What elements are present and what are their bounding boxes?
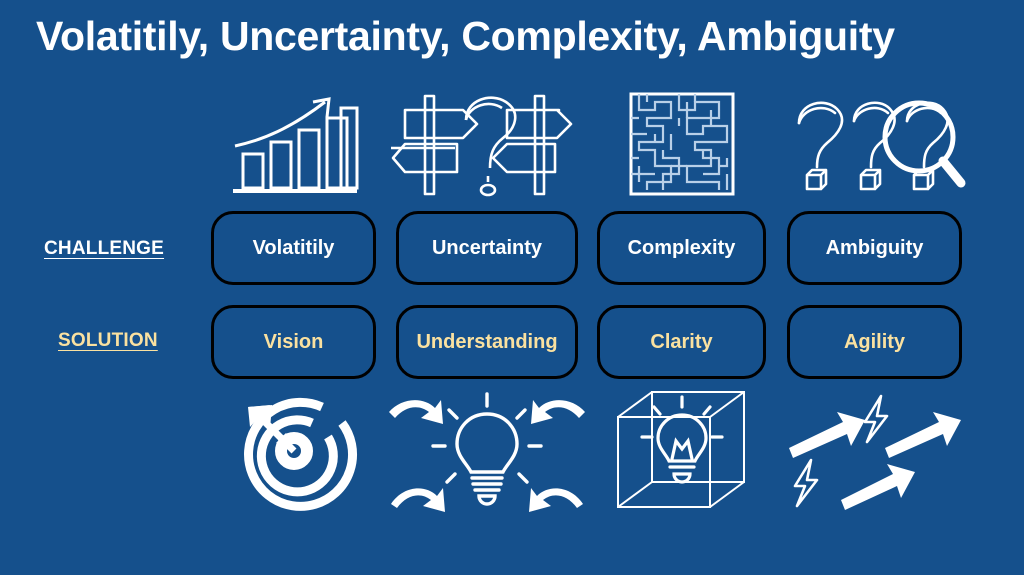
lightbulb-inward-arrows-icon — [396, 385, 578, 515]
challenge-card-volatility[interactable]: Volatitily — [211, 211, 376, 285]
target-arrow-icon — [211, 385, 376, 515]
challenge-card-ambiguity[interactable]: Ambiguity — [787, 211, 962, 285]
challenge-card-complexity[interactable]: Complexity — [597, 211, 766, 285]
solution-card-agility[interactable]: Agility — [787, 305, 962, 379]
signpost-question-mark-icon — [396, 88, 578, 200]
solution-card-clarity[interactable]: Clarity — [597, 305, 766, 379]
question-marks-magnifier-icon — [787, 88, 962, 200]
arrows-lightning-icon — [787, 385, 962, 515]
row-label-solution: SOLUTION — [58, 330, 158, 352]
maze-icon — [597, 88, 766, 200]
lightbulb-in-cube-icon — [597, 385, 766, 515]
row-label-challenge: CHALLENGE — [44, 238, 164, 260]
challenge-card-uncertainty[interactable]: Uncertainty — [396, 211, 578, 285]
slide-canvas: Volatitily, Uncertainty, Complexity, Amb… — [0, 0, 1024, 575]
solution-card-understanding[interactable]: Understanding — [396, 305, 578, 379]
page-title: Volatitily, Uncertainty, Complexity, Amb… — [36, 12, 1006, 61]
bar-chart-growth-icon — [211, 88, 376, 200]
solution-card-vision[interactable]: Vision — [211, 305, 376, 379]
